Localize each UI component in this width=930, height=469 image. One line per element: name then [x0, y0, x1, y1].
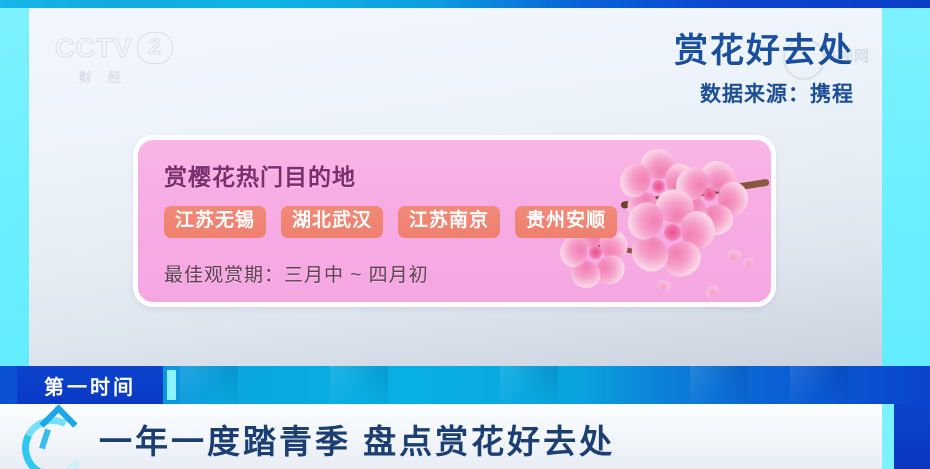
- destination-tag: 江苏南京: [398, 206, 500, 238]
- cctv-channel-number: 2: [137, 32, 173, 64]
- cctv-channel-subtitle: 财经: [79, 67, 185, 86]
- badge-accent-bar: [167, 370, 176, 400]
- top-accent-strip: [0, 0, 930, 8]
- data-source-label: 数据来源：携程: [674, 78, 854, 108]
- swirl-arrow-icon: [18, 407, 84, 469]
- news-headline: 一年一度踏青季 盘点赏花好去处: [99, 415, 615, 463]
- cctv-wordmark: CCTV: [55, 35, 133, 62]
- broadcast-screenshot: CCTV 2 财经 赏花好去处 数据来源：携程 央视网 赏樱花热门目的地 江苏无…: [0, 0, 930, 469]
- right-cyan-band: [882, 8, 930, 366]
- destination-card: 赏樱花热门目的地 江苏无锡 湖北武汉 江苏南京 贵州安顺 最佳观赏期：三月中 ~…: [133, 135, 776, 307]
- headline-strip: 一年一度踏青季 盘点赏花好去处: [0, 404, 930, 469]
- best-viewing-period-note: 最佳观赏期：三月中 ~ 四月初: [164, 260, 429, 287]
- cctv-logo-row: CCTV 2: [55, 32, 185, 64]
- headline-strip-cyan-cap: [882, 404, 894, 469]
- destination-tag: 江苏无锡: [164, 206, 266, 238]
- left-cyan-band: [0, 8, 29, 366]
- page-title: 赏花好去处: [674, 32, 854, 70]
- graphic-stage: CCTV 2 财经 赏花好去处 数据来源：携程 央视网 赏樱花热门目的地 江苏无…: [29, 8, 882, 366]
- cctv-channel-logo: CCTV 2 财经: [55, 32, 185, 92]
- graphic-header: 赏花好去处 数据来源：携程: [674, 32, 854, 108]
- program-name-label: 第一时间: [44, 371, 136, 400]
- destination-tag-list: 江苏无锡 湖北武汉 江苏南京 贵州安顺: [164, 206, 617, 238]
- card-title: 赏樱花热门目的地: [164, 158, 356, 192]
- lower-third-bar: 第一时间: [0, 366, 930, 404]
- destination-tag: 贵州安顺: [515, 206, 617, 238]
- headline-strip-blue-cap: [894, 404, 930, 469]
- program-name-badge: 第一时间: [17, 366, 163, 404]
- destination-tag: 湖北武汉: [281, 206, 383, 238]
